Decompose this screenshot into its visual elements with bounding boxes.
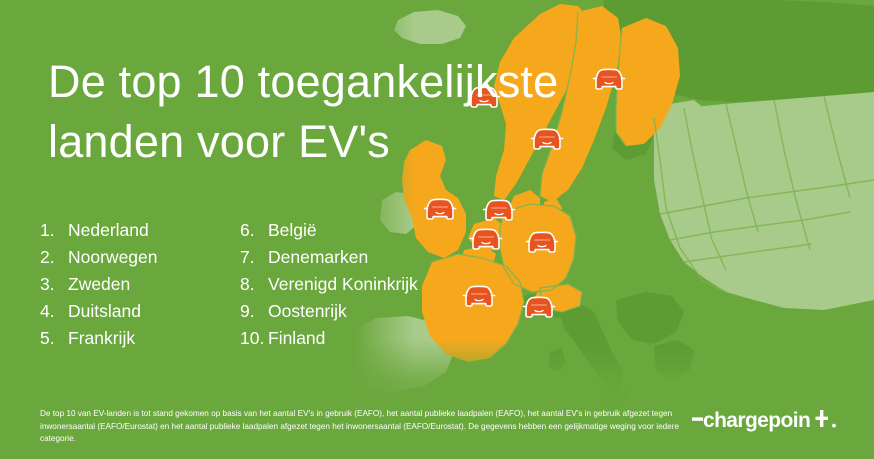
list-item-rank: 3.	[40, 273, 68, 296]
list-item-label: Duitsland	[68, 300, 141, 323]
page-title: De top 10 toegankelijkste landen voor EV…	[48, 52, 648, 172]
list-item-rank: 5.	[40, 327, 68, 350]
car-icon-netherlands	[469, 227, 503, 253]
ranking-column-left: 1. Nederland 2. Noorwegen 3. Zweden 4. D…	[40, 219, 240, 354]
list-item: 3. Zweden	[40, 273, 240, 296]
ranking-column-right: 6. België 7. Denemarken 8. Verenigd Koni…	[240, 219, 460, 354]
list-item-label: België	[268, 219, 317, 242]
list-item: 4. Duitsland	[40, 300, 240, 323]
chargepoint-logo: chargepoin	[692, 406, 842, 432]
car-icon-austria	[522, 295, 556, 321]
list-item-rank: 8.	[240, 273, 268, 296]
car-icon-france	[462, 284, 496, 310]
list-item: 5. Frankrijk	[40, 327, 240, 350]
list-item: 9. Oostenrijk	[240, 300, 460, 323]
list-item-label: Oostenrijk	[268, 300, 347, 323]
list-item: 8. Verenigd Koninkrijk	[240, 273, 460, 296]
list-item-rank: 4.	[40, 300, 68, 323]
list-item-label: Verenigd Koninkrijk	[268, 273, 418, 296]
list-item-rank: 1.	[40, 219, 68, 242]
list-item-label: Denemarken	[268, 246, 368, 269]
list-item-label: Frankrijk	[68, 327, 135, 350]
list-item: 2. Noorwegen	[40, 246, 240, 269]
list-item-label: Noorwegen	[68, 246, 158, 269]
ranking-list: 1. Nederland 2. Noorwegen 3. Zweden 4. D…	[40, 219, 460, 354]
list-item: 10. Finland	[240, 327, 460, 350]
footer-disclaimer: De top 10 van EV-landen is tot stand gek…	[40, 408, 680, 446]
list-item-label: Nederland	[68, 219, 149, 242]
car-icon-denmark	[482, 198, 516, 224]
list-item: 7. Denemarken	[240, 246, 460, 269]
list-item-label: Zweden	[68, 273, 130, 296]
infographic-canvas: De top 10 toegankelijkste landen voor EV…	[0, 0, 874, 459]
list-item-rank: 2.	[40, 246, 68, 269]
car-icon-germany	[525, 230, 559, 256]
list-item: 6. België	[240, 219, 460, 242]
list-item: 1. Nederland	[40, 219, 240, 242]
list-item-rank: 6.	[240, 219, 268, 242]
list-item-rank: 10.	[240, 327, 268, 350]
list-item-label: Finland	[268, 327, 325, 350]
list-item-rank: 9.	[240, 300, 268, 323]
svg-text:chargepoin: chargepoin	[703, 409, 810, 432]
list-item-rank: 7.	[240, 246, 268, 269]
chargepoint-logo-mark: chargepoin	[692, 406, 842, 432]
